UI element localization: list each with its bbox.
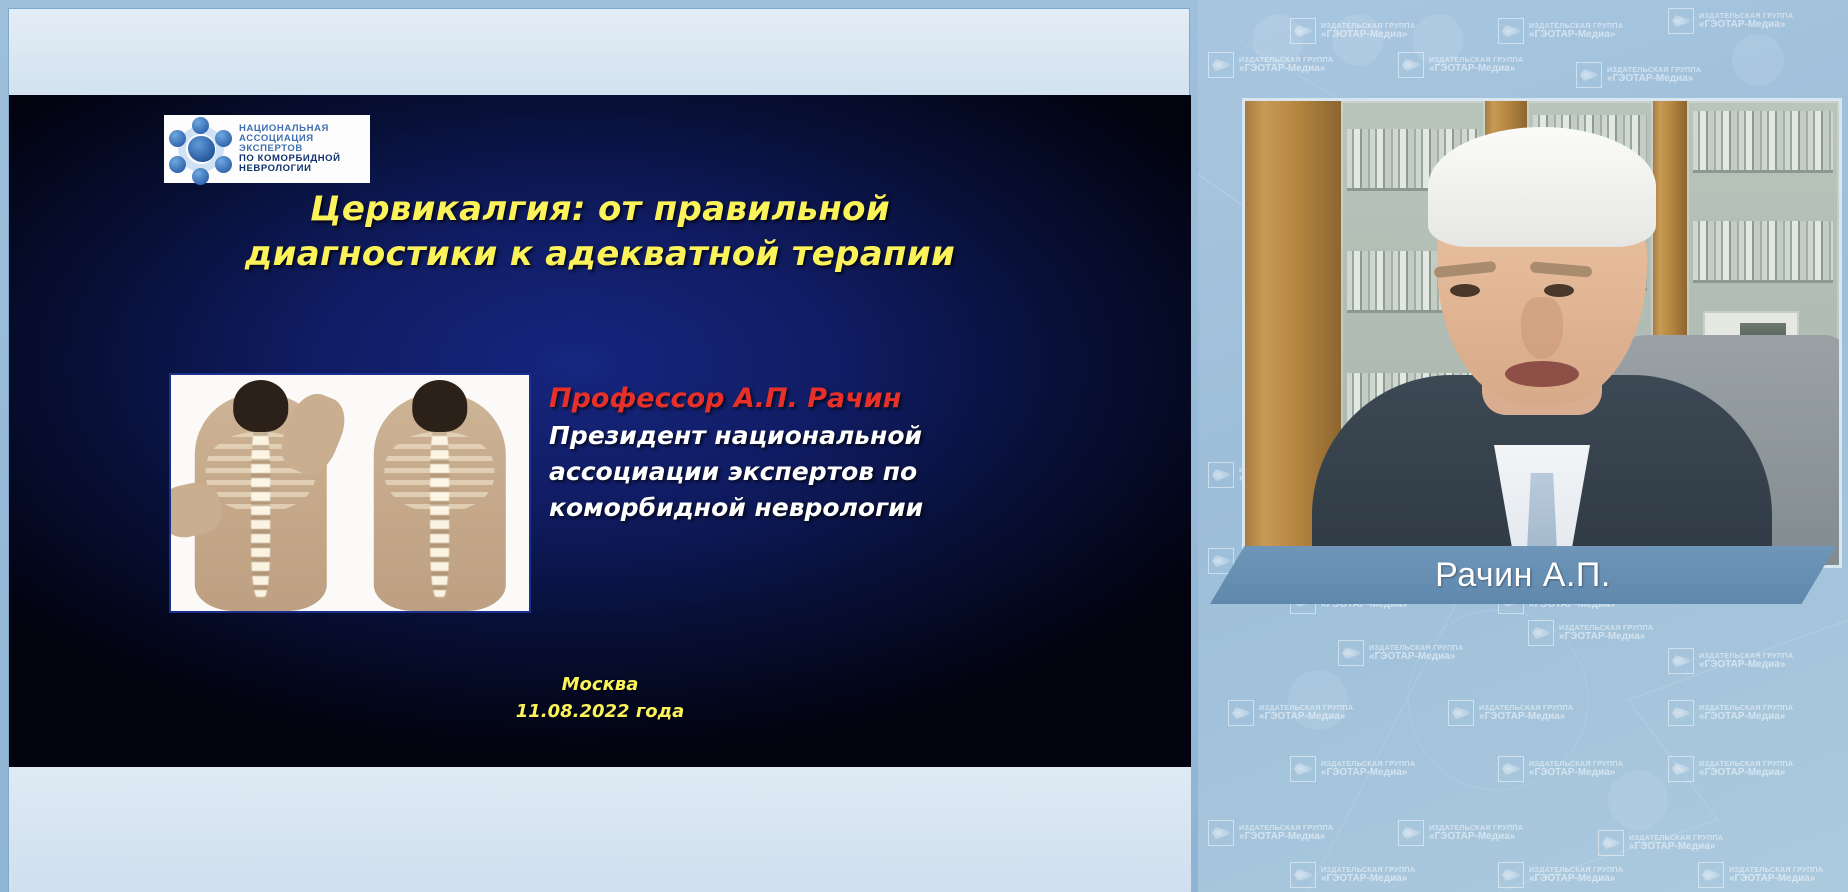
geotar-logo-icon [1398,820,1424,846]
watermark-top-line: ИЗДАТЕЛЬСКАЯ ГРУППА [1479,704,1573,712]
watermark-brand: «ГЭОТАР-Медиа» [1321,767,1415,778]
watermark-brand: «ГЭОТАР-Медиа» [1629,841,1723,852]
watermark-geotar-media: ИЗДАТЕЛЬСКАЯ ГРУППА«ГЭОТАР-Медиа» [1698,862,1823,888]
slide-title-line-2: диагностики к адекватной терапии [9,232,1191,277]
watermark-top-line: ИЗДАТЕЛЬСКАЯ ГРУППА [1239,824,1333,832]
watermark-geotar-media: ИЗДАТЕЛЬСКАЯ ГРУППА«ГЭОТАР-Медиа» [1290,756,1415,782]
geotar-logo-icon [1498,18,1524,44]
watermark-brand: «ГЭОТАР-Медиа» [1239,831,1333,842]
figure-neck-pain [171,375,350,611]
speaker-name-label: Рачин А.П. [1435,556,1611,595]
slide-canvas[interactable]: НАЦИОНАЛЬНАЯ АССОЦИАЦИЯ ЭКСПЕРТОВ ПО КОМ… [9,95,1191,767]
watermark-geotar-media: ИЗДАТЕЛЬСКАЯ ГРУППА«ГЭОТАР-Медиа» [1398,820,1523,846]
geotar-logo-icon [1668,8,1694,34]
watermark-top-line: ИЗДАТЕЛЬСКАЯ ГРУППА [1321,866,1415,874]
watermark-brand: «ГЭОТАР-Медиа» [1699,711,1793,722]
video-pane: ИЗДАТЕЛЬСКАЯ ГРУППА«ГЭОТАР-Медиа»ИЗДАТЕЛ… [1198,0,1848,892]
geotar-logo-icon [1668,648,1694,674]
watermark-top-line: ИЗДАТЕЛЬСКАЯ ГРУППА [1699,704,1793,712]
speaker-person [1312,165,1772,565]
geotar-logo-icon [1698,862,1724,888]
watermark-geotar-media: ИЗДАТЕЛЬСКАЯ ГРУППА«ГЭОТАР-Медиа» [1528,620,1653,646]
watermark-geotar-media: ИЗДАТЕЛЬСКАЯ ГРУППА«ГЭОТАР-Медиа» [1398,52,1523,78]
speaker-role-line-2: ассоциации экспертов по [549,454,1169,490]
watermark-brand: «ГЭОТАР-Медиа» [1699,767,1793,778]
slide-date: 11.08.2022 года [9,698,1191,725]
watermark-geotar-media: ИЗДАТЕЛЬСКАЯ ГРУППА«ГЭОТАР-Медиа» [1448,700,1573,726]
webinar-screen: НАЦИОНАЛЬНАЯ АССОЦИАЦИЯ ЭКСПЕРТОВ ПО КОМ… [0,0,1848,892]
geotar-logo-icon [1576,62,1602,88]
geotar-logo-icon [1398,52,1424,78]
logo-line-5: НЕВРОЛОГИИ [239,164,341,174]
geotar-logo-icon [1668,700,1694,726]
watermark-top-line: ИЗДАТЕЛЬСКАЯ ГРУППА [1559,624,1653,632]
speaker-name: Профессор А.П. Рачин [549,383,1169,414]
watermark-top-line: ИЗДАТЕЛЬСКАЯ ГРУППА [1699,652,1793,660]
watermark-top-line: ИЗДАТЕЛЬСКАЯ ГРУППА [1321,22,1415,30]
watermark-brand: «ГЭОТАР-Медиа» [1529,767,1623,778]
watermark-brand: «ГЭОТАР-Медиа» [1529,873,1623,884]
geotar-logo-icon [1338,640,1364,666]
geotar-logo-icon [1290,862,1316,888]
watermark-brand: «ГЭОТАР-Медиа» [1479,711,1573,722]
watermark-top-line: ИЗДАТЕЛЬСКАЯ ГРУППА [1729,866,1823,874]
watermark-top-line: ИЗДАТЕЛЬСКАЯ ГРУППА [1321,760,1415,768]
watermark-top-line: ИЗДАТЕЛЬСКАЯ ГРУППА [1699,12,1793,20]
watermark-brand: «ГЭОТАР-Медиа» [1607,73,1701,84]
geotar-logo-icon [1208,462,1234,488]
geotar-logo-icon [1228,700,1254,726]
geotar-logo-icon [1208,820,1234,846]
geotar-logo-icon [1598,830,1624,856]
brain-network-icon [170,118,234,180]
geotar-logo-icon [1290,756,1316,782]
slide-title: Цервикалгия: от правильной диагностики к… [9,187,1191,277]
slide-place-date: Москва 11.08.2022 года [9,671,1191,726]
watermark-top-line: ИЗДАТЕЛЬСКАЯ ГРУППА [1699,760,1793,768]
slide-viewer-pane: НАЦИОНАЛЬНАЯ АССОЦИАЦИЯ ЭКСПЕРТОВ ПО КОМ… [0,0,1198,892]
watermark-top-line: ИЗДАТЕЛЬСКАЯ ГРУППА [1429,824,1523,832]
watermark-geotar-media: ИЗДАТЕЛЬСКАЯ ГРУППА«ГЭОТАР-Медиа» [1228,700,1353,726]
watermark-geotar-media: ИЗДАТЕЛЬСКАЯ ГРУППА«ГЭОТАР-Медиа» [1208,52,1333,78]
slide-title-line-1: Цервикалгия: от правильной [9,187,1191,232]
slide-city: Москва [9,671,1191,698]
watermark-geotar-media: ИЗДАТЕЛЬСКАЯ ГРУППА«ГЭОТАР-Медиа» [1598,830,1723,856]
spine-anatomy-image [169,373,531,613]
watermark-brand: «ГЭОТАР-Медиа» [1529,29,1623,40]
speaker-name-banner: Рачин А.П. [1210,546,1836,604]
watermark-top-line: ИЗДАТЕЛЬСКАЯ ГРУППА [1529,866,1623,874]
geotar-logo-icon [1208,52,1234,78]
watermark-top-line: ИЗДАТЕЛЬСКАЯ ГРУППА [1629,834,1723,842]
slide-topbar [9,9,1189,95]
slide-bottom-area [9,767,1191,892]
watermark-geotar-media: ИЗДАТЕЛЬСКАЯ ГРУППА«ГЭОТАР-Медиа» [1290,862,1415,888]
watermark-brand: «ГЭОТАР-Медиа» [1369,651,1463,662]
watermark-geotar-media: ИЗДАТЕЛЬСКАЯ ГРУППА«ГЭОТАР-Медиа» [1338,640,1463,666]
watermark-geotar-media: ИЗДАТЕЛЬСКАЯ ГРУППА«ГЭОТАР-Медиа» [1576,62,1701,88]
watermark-geotar-media: ИЗДАТЕЛЬСКАЯ ГРУППА«ГЭОТАР-Медиа» [1498,18,1623,44]
watermark-brand: «ГЭОТАР-Медиа» [1429,63,1523,74]
watermark-top-line: ИЗДАТЕЛЬСКАЯ ГРУППА [1239,56,1333,64]
watermark-brand: «ГЭОТАР-Медиа» [1699,659,1793,670]
watermark-geotar-media: ИЗДАТЕЛЬСКАЯ ГРУППА«ГЭОТАР-Медиа» [1668,756,1793,782]
watermark-brand: «ГЭОТАР-Медиа» [1699,19,1793,30]
watermark-geotar-media: ИЗДАТЕЛЬСКАЯ ГРУППА«ГЭОТАР-Медиа» [1498,862,1623,888]
watermark-geotar-media: ИЗДАТЕЛЬСКАЯ ГРУППА«ГЭОТАР-Медиа» [1668,8,1793,34]
speaker-role-line-3: коморбидной неврологии [549,490,1169,526]
watermark-top-line: ИЗДАТЕЛЬСКАЯ ГРУППА [1369,644,1463,652]
geotar-logo-icon [1498,756,1524,782]
watermark-top-line: ИЗДАТЕЛЬСКАЯ ГРУППА [1429,56,1523,64]
speaker-info-block: Профессор А.П. Рачин Президент националь… [549,383,1169,525]
slide-frame: НАЦИОНАЛЬНАЯ АССОЦИАЦИЯ ЭКСПЕРТОВ ПО КОМ… [8,8,1190,892]
figure-spine-xray [350,375,529,611]
geotar-logo-icon [1290,18,1316,44]
watermark-geotar-media: ИЗДАТЕЛЬСКАЯ ГРУППА«ГЭОТАР-Медиа» [1498,756,1623,782]
watermark-brand: «ГЭОТАР-Медиа» [1321,873,1415,884]
watermark-geotar-media: ИЗДАТЕЛЬСКАЯ ГРУППА«ГЭОТАР-Медиа» [1668,700,1793,726]
watermark-top-line: ИЗДАТЕЛЬСКАЯ ГРУППА [1529,22,1623,30]
watermark-top-line: ИЗДАТЕЛЬСКАЯ ГРУППА [1607,66,1701,74]
geotar-logo-icon [1668,756,1694,782]
watermark-brand: «ГЭОТАР-Медиа» [1559,631,1653,642]
geotar-logo-icon [1448,700,1474,726]
geotar-logo-icon [1208,548,1234,574]
watermark-geotar-media: ИЗДАТЕЛЬСКАЯ ГРУППА«ГЭОТАР-Медиа» [1290,18,1415,44]
watermark-top-line: ИЗДАТЕЛЬСКАЯ ГРУППА [1529,760,1623,768]
watermark-brand: «ГЭОТАР-Медиа» [1429,831,1523,842]
speaker-video-frame[interactable] [1242,98,1842,568]
watermark-geotar-media: ИЗДАТЕЛЬСКАЯ ГРУППА«ГЭОТАР-Медиа» [1668,648,1793,674]
geotar-logo-icon [1498,862,1524,888]
watermark-geotar-media: ИЗДАТЕЛЬСКАЯ ГРУППА«ГЭОТАР-Медиа» [1208,820,1333,846]
geotar-logo-icon [1528,620,1554,646]
national-association-logo: НАЦИОНАЛЬНАЯ АССОЦИАЦИЯ ЭКСПЕРТОВ ПО КОМ… [164,115,370,183]
watermark-brand: «ГЭОТАР-Медиа» [1239,63,1333,74]
watermark-top-line: ИЗДАТЕЛЬСКАЯ ГРУППА [1259,704,1353,712]
watermark-brand: «ГЭОТАР-Медиа» [1729,873,1823,884]
watermark-brand: «ГЭОТАР-Медиа» [1259,711,1353,722]
watermark-brand: «ГЭОТАР-Медиа» [1321,29,1415,40]
speaker-role-line-1: Президент национальной [549,418,1169,454]
